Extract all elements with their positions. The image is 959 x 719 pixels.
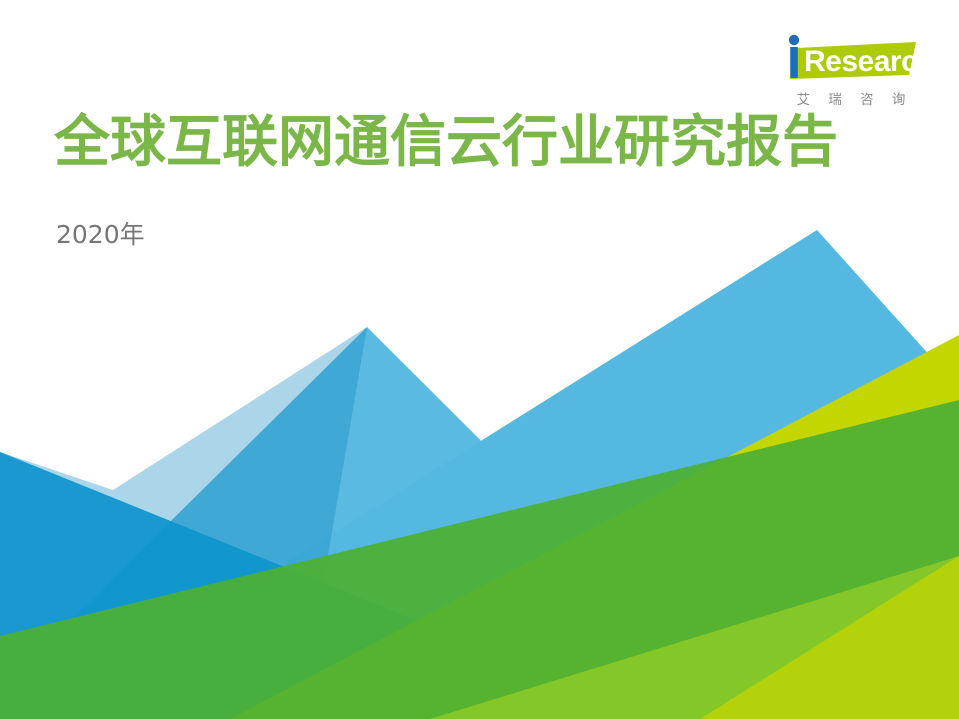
logo-dot-icon	[789, 35, 799, 45]
page-title: 全球互联网通信云行业研究报告	[54, 112, 838, 175]
iresearch-logo: Research 艾 瑞 咨 询	[775, 26, 925, 121]
page-subtitle-year: 2020年	[56, 215, 145, 251]
logo-mark: Research	[775, 26, 925, 84]
logo-i-stem	[790, 47, 798, 78]
logo-chinese-name: 艾 瑞 咨 询	[783, 88, 919, 108]
logo-wordmark: Research	[804, 45, 925, 78]
report-cover-slide: Research 艾 瑞 咨 询 全球互联网通信云行业研究报告 2020年	[0, 0, 959, 719]
